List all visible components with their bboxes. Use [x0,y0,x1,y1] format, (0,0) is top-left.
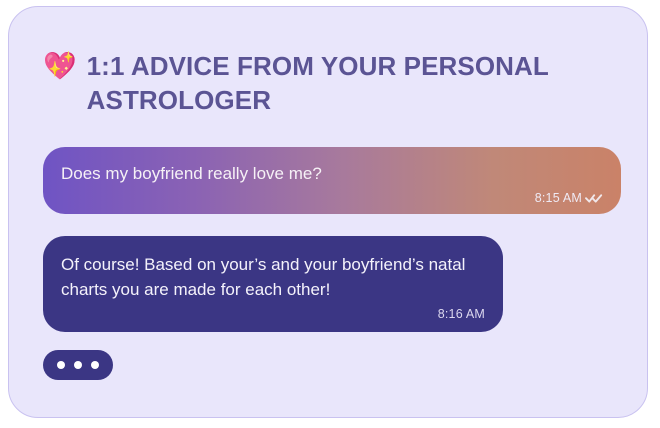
message-row-incoming: Of course! Based on your’s and your boyf… [43,236,621,332]
typing-dot [57,361,65,369]
typing-indicator [43,350,113,380]
message-list: Does my boyfriend really love me? 8:15 A… [43,147,621,397]
typing-dot [74,361,82,369]
page-title-text: 1:1 ADVICE FROM YOUR PERSONAL ASTROLOGER [87,49,587,117]
chat-card: 💖 1:1 ADVICE FROM YOUR PERSONAL ASTROLOG… [8,6,648,418]
typing-indicator-row [43,350,621,380]
message-bubble-outgoing[interactable]: Does my boyfriend really love me? 8:15 A… [43,147,621,214]
message-text: Does my boyfriend really love me? [61,161,603,186]
message-bubble-incoming[interactable]: Of course! Based on your’s and your boyf… [43,236,503,332]
page-title: 💖 1:1 ADVICE FROM YOUR PERSONAL ASTROLOG… [43,49,603,117]
message-meta: 8:16 AM [61,306,485,322]
message-meta: 8:15 AM [61,190,603,206]
sparkling-heart-icon: 💖 [43,49,77,83]
message-text: Of course! Based on your’s and your boyf… [61,252,485,302]
message-row-outgoing: Does my boyfriend really love me? 8:15 A… [43,147,621,214]
double-check-icon [585,192,603,204]
message-timestamp: 8:16 AM [438,306,485,322]
typing-dot [91,361,99,369]
message-timestamp: 8:15 AM [535,190,582,206]
